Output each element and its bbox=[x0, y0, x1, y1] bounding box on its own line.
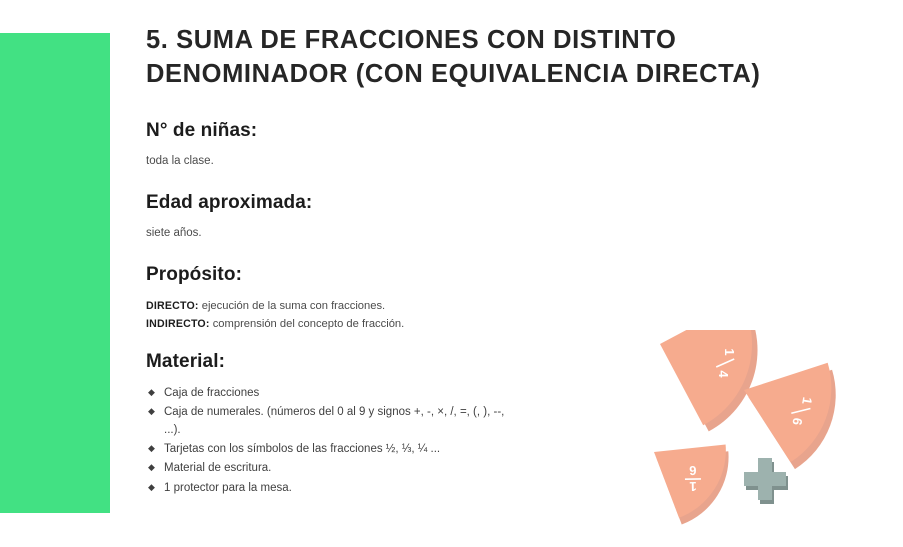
diamond-bullet-icon: ◆ bbox=[148, 403, 155, 420]
diamond-bullet-icon: ◆ bbox=[148, 384, 155, 401]
list-item: ◆ 1 protector para la mesa. bbox=[146, 479, 516, 497]
section-heading-proposito: Propósito: bbox=[146, 264, 846, 287]
proposito-line-directo: DIRECTO: ejecución de la suma con fracci… bbox=[146, 297, 846, 315]
list-item: ◆ Caja de numerales. (números del 0 al 9… bbox=[146, 403, 516, 439]
fraction-pieces-illustration: 1 4 1 6 1 bbox=[636, 330, 886, 530]
section-numero-ninas: N° de niñas: toda la clase. bbox=[146, 120, 846, 170]
slide-page: 5. SUMA DE FRACCIONES CON DISTINTO DENOM… bbox=[0, 0, 903, 547]
proposito-label-indirecto: INDIRECTO: bbox=[146, 318, 210, 330]
section-heading-numero-ninas: N° de niñas: bbox=[146, 120, 846, 143]
section-proposito: Propósito: DIRECTO: ejecución de la suma… bbox=[146, 264, 846, 333]
section-heading-edad-aproximada: Edad aproximada: bbox=[146, 192, 846, 215]
list-item-label: Caja de fracciones bbox=[164, 387, 259, 399]
plus-operator-icon bbox=[744, 458, 788, 504]
list-item-label: Tarjetas con los símbolos de las fraccio… bbox=[164, 443, 440, 455]
list-item: ◆ Tarjetas con los símbolos de las fracc… bbox=[146, 440, 516, 458]
list-item-label: 1 protector para la mesa. bbox=[164, 482, 292, 494]
plus-body bbox=[744, 458, 786, 500]
fraction-numerator: 1 bbox=[689, 479, 696, 494]
left-accent-bar bbox=[0, 33, 110, 513]
fraction-denominator: 6 bbox=[689, 463, 696, 478]
diamond-bullet-icon: ◆ bbox=[148, 440, 155, 457]
proposito-lines: DIRECTO: ejecución de la suma con fracci… bbox=[146, 297, 846, 333]
fraction-piece-sixth-small: 1 6 bbox=[654, 444, 735, 526]
list-item-label: Caja de numerales. (números del 0 al 9 y… bbox=[164, 406, 504, 436]
fraction-numerator: 1 bbox=[722, 348, 737, 355]
page-title: 5. SUMA DE FRACCIONES CON DISTINTO DENOM… bbox=[146, 24, 846, 92]
proposito-text-indirecto: comprensión del concepto de fracción. bbox=[210, 318, 405, 330]
diamond-bullet-icon: ◆ bbox=[148, 479, 155, 496]
section-body-edad-aproximada: siete años. bbox=[146, 225, 846, 242]
list-item: ◆ Caja de fracciones bbox=[146, 384, 516, 402]
list-item: ◆ Material de escritura. bbox=[146, 459, 516, 477]
proposito-label-directo: DIRECTO: bbox=[146, 300, 199, 312]
list-item-label: Material de escritura. bbox=[164, 462, 271, 474]
proposito-text-directo: ejecución de la suma con fracciones. bbox=[199, 300, 386, 312]
piece-body bbox=[744, 363, 853, 469]
diamond-bullet-icon: ◆ bbox=[148, 459, 155, 476]
fraction-denominator: 4 bbox=[716, 370, 731, 378]
section-edad-aproximada: Edad aproximada: siete años. bbox=[146, 192, 846, 242]
section-body-numero-ninas: toda la clase. bbox=[146, 153, 846, 170]
